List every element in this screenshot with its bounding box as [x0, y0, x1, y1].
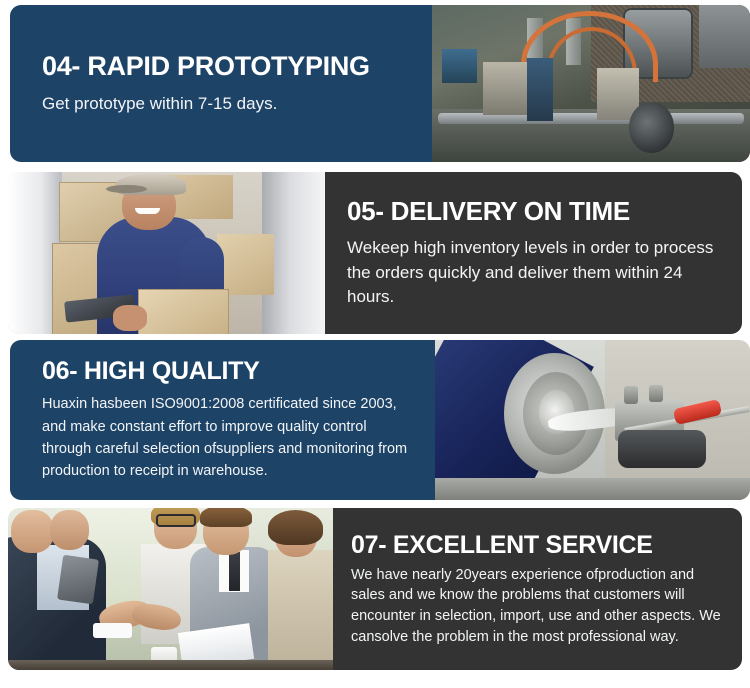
lathe-base [435, 478, 750, 500]
glasses-icon [156, 514, 196, 526]
meeting-tablet [57, 554, 99, 604]
machine-motor-second [699, 5, 750, 68]
machine-rail [438, 113, 743, 124]
machine-vise [442, 49, 477, 84]
machine-block-blue [527, 58, 552, 121]
meeting-table [8, 660, 333, 670]
business-handshake-photo [8, 508, 333, 670]
meeting-man-hair [200, 508, 252, 527]
courier-hand [113, 305, 148, 331]
shirt-cuff [93, 623, 132, 638]
courier-smile [135, 208, 160, 214]
feature-block-04: 04- RAPID PROTOTYPING Get prototype with… [10, 5, 750, 162]
feature-block-07-body: We have nearly 20years experience ofprod… [351, 565, 723, 647]
feature-block-06-text-panel: 06- HIGH QUALITY Huaxin hasbeen ISO9001:… [10, 340, 435, 500]
feature-block-07-text-panel: 07- EXCELLENT SERVICE We have nearly 20y… [333, 508, 742, 670]
feature-block-05-title: 05- DELIVERY ON TIME [347, 196, 742, 227]
lathe-bolt-left [624, 386, 638, 404]
feature-block-07-title: 07- EXCELLENT SERVICE [351, 531, 728, 560]
feature-block-06-body: Huaxin hasbeen ISO9001:2008 certificated… [42, 393, 417, 483]
meeting-person-2-head [50, 510, 89, 551]
delivery-courier-photo [8, 172, 325, 334]
meeting-person-right-hair [268, 510, 323, 546]
meeting-person-left-head [11, 510, 53, 554]
cardboard-box-d [217, 234, 274, 296]
cnc-lathe-quality-photo [435, 340, 750, 500]
feature-block-04-text-panel: 04- RAPID PROTOTYPING Get prototype with… [10, 5, 432, 162]
lathe-bolt-right [649, 385, 663, 403]
feature-block-06-title: 06- HIGH QUALITY [42, 357, 417, 386]
cardboard-box-held [138, 289, 229, 334]
meeting-person-right-jacket [268, 550, 333, 670]
machine-chuck [629, 102, 674, 152]
feature-blocks-page: 04- RAPID PROTOTYPING Get prototype with… [0, 0, 750, 688]
feature-block-04-body: Get prototype within 7-15 days. [42, 93, 432, 116]
feature-block-07: 07- EXCELLENT SERVICE We have nearly 20y… [8, 508, 742, 670]
feature-block-04-title: 04- RAPID PROTOTYPING [42, 51, 432, 82]
rapid-prototyping-machining-photo [432, 5, 750, 162]
feature-block-05: 05- DELIVERY ON TIME Wekeep high invento… [8, 172, 742, 334]
meeting-man-tie [229, 552, 240, 591]
feature-block-06: 06- HIGH QUALITY Huaxin hasbeen ISO9001:… [10, 340, 750, 500]
machine-block-left [483, 62, 528, 115]
feature-block-05-body: Wekeep high inventory levels in order to… [347, 236, 719, 310]
feature-block-05-text-panel: 05- DELIVERY ON TIME Wekeep high invento… [325, 172, 742, 334]
lathe-black-bar [618, 430, 706, 468]
